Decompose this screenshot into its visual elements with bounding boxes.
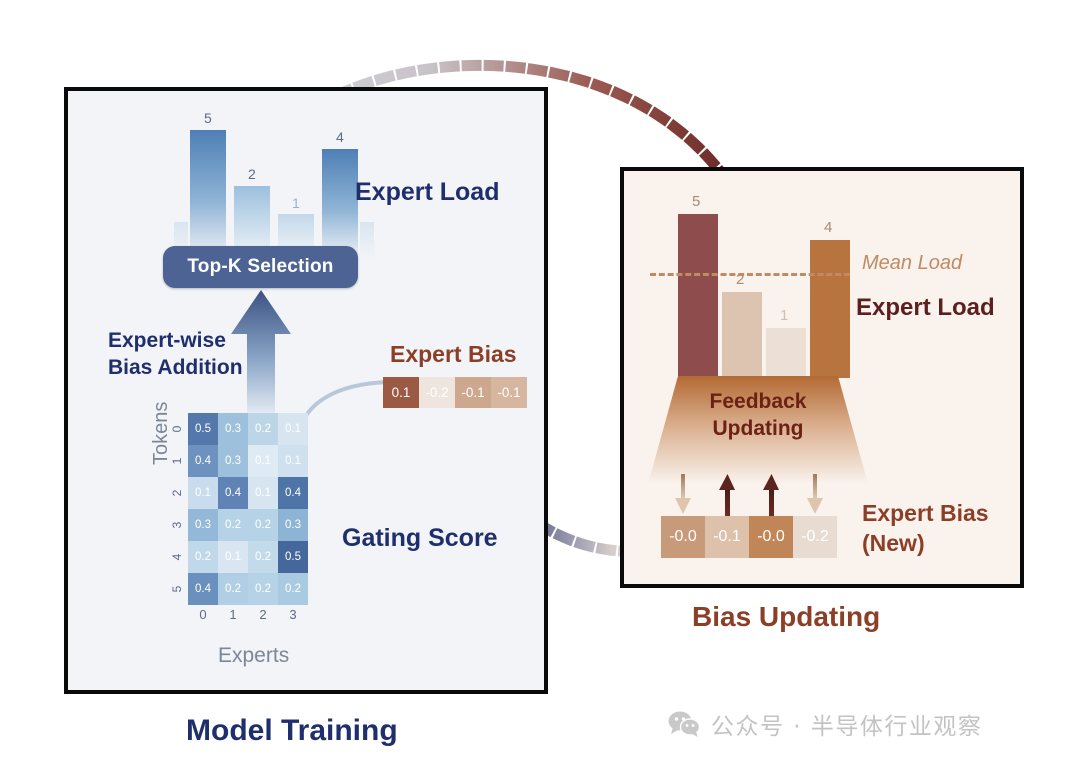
bias-cell-new: -0.2 <box>793 516 837 558</box>
bias-addition-line-2: Bias Addition <box>108 354 243 381</box>
heatmap-cell: 0.2 <box>248 573 278 605</box>
mean-load-dashed-line <box>650 273 850 276</box>
heatmap-cell: 0.1 <box>248 477 278 509</box>
bar-value-label: 1 <box>780 307 788 324</box>
bias-cell: -0.2 <box>419 377 455 408</box>
heatmap-cell: 0.3 <box>218 413 248 445</box>
heatmap-cell: 0.3 <box>218 445 248 477</box>
bar-value-label: 1 <box>292 195 300 211</box>
model-training-caption: Model Training <box>186 714 398 748</box>
token-row-label: 4 <box>161 550 193 564</box>
bias-cell: -0.1 <box>455 377 491 408</box>
heatmap-row: 0.2 0.1 0.2 0.5 <box>188 541 308 573</box>
diagram-canvas: 5 2 1 4 Expert Load Top-K Selection Expe… <box>0 0 1080 776</box>
bar-value-label: 5 <box>204 110 212 126</box>
expert-bias-new-line-2: (New) <box>862 528 989 558</box>
heatmap-row: 0.4 0.2 0.2 0.2 <box>188 573 308 605</box>
top-k-selection-label: Top-K Selection <box>187 256 333 278</box>
feedback-updating-label: Feedback Updating <box>648 388 868 442</box>
heatmap-row: 0.4 0.3 0.1 0.1 <box>188 445 308 477</box>
heatmap-cell: 0.2 <box>218 573 248 605</box>
heatmap-cell: 0.1 <box>248 445 278 477</box>
expert-col-label: 0 <box>188 607 218 622</box>
experts-axis-label: Experts <box>218 644 289 668</box>
heatmap-cell: 0.2 <box>248 509 278 541</box>
heatmap-cell: 0.4 <box>278 477 308 509</box>
bias-arrow-down-icon <box>807 474 823 514</box>
feedback-line-1: Feedback <box>648 388 868 415</box>
heatmap-row: 0.5 0.3 0.2 0.1 <box>188 413 308 445</box>
wechat-icon <box>668 710 700 738</box>
expert-load-bar-chart-left: 5 2 1 4 <box>172 110 362 260</box>
gating-score-heatmap: 0 1 2 3 4 5 0.5 0.3 0.2 0.1 0.4 0.3 0.1 … <box>188 413 308 605</box>
token-row-label: 3 <box>161 518 193 532</box>
heatmap-cell: 0.2 <box>248 541 278 573</box>
feedback-line-2: Updating <box>648 415 868 442</box>
bias-cell-new: -0.0 <box>749 516 793 558</box>
expert-col-label: 2 <box>248 607 278 622</box>
expert-col-label: 3 <box>278 607 308 622</box>
watermark-text: 公众号 · 半导体行业观察 <box>711 707 982 741</box>
token-row-label: 2 <box>161 486 193 500</box>
bias-cell-new: -0.0 <box>661 516 705 558</box>
expert-bias-new-line-1: Expert Bias <box>862 498 989 528</box>
bias-cell: -0.1 <box>491 377 527 408</box>
bias-arrow-up-icon <box>719 474 735 516</box>
bias-cell-new: -0.1 <box>705 516 749 558</box>
heatmap-cell: 0.2 <box>218 509 248 541</box>
heatmap-cell: 0.5 <box>278 541 308 573</box>
bias-updating-caption: Bias Updating <box>692 601 880 633</box>
heatmap-cell: 0.4 <box>218 477 248 509</box>
expert-bias-row-left: 0.1 -0.2 -0.1 -0.1 <box>383 377 527 408</box>
expert-bias-new-label: Expert Bias (New) <box>862 498 989 558</box>
gating-score-label: Gating Score <box>342 524 498 553</box>
heatmap-cell: 0.1 <box>278 445 308 477</box>
heatmap-cell: 0.1 <box>218 541 248 573</box>
top-k-selection-box[interactable]: Top-K Selection <box>163 246 358 288</box>
expert-col-label: 1 <box>218 607 248 622</box>
expert-load-label-left: Expert Load <box>355 178 499 207</box>
heatmap-row: 0.3 0.2 0.2 0.3 <box>188 509 308 541</box>
bar-value-label: 5 <box>692 193 700 210</box>
bias-arrow-down-icon <box>675 474 691 514</box>
heatmap-row: 0.1 0.4 0.1 0.4 <box>188 477 308 509</box>
bar-value-label: 4 <box>336 129 344 145</box>
bias-arrow-up-icon <box>763 474 779 516</box>
expert-bias-new-row: -0.0 -0.1 -0.0 -0.2 <box>661 516 837 558</box>
bias-cell: 0.1 <box>383 377 419 408</box>
heatmap-cell: 0.2 <box>248 413 278 445</box>
heatmap-cell: 0.1 <box>278 413 308 445</box>
watermark: 公众号 · 半导体行业观察 <box>668 707 982 741</box>
tokens-axis-label: Tokens <box>150 402 173 465</box>
expert-bias-label-left: Expert Bias <box>390 341 517 368</box>
heatmap-cell: 0.2 <box>278 573 308 605</box>
expert-load-bar-chart-right: 5 2 1 4 <box>668 200 838 378</box>
bias-addition-line-1: Expert-wise <box>108 327 243 354</box>
expert-wise-bias-addition-label: Expert-wise Bias Addition <box>108 327 243 381</box>
token-row-label: 5 <box>161 582 193 596</box>
bias-update-arrows <box>661 472 837 516</box>
mean-load-label: Mean Load <box>862 252 962 275</box>
heatmap-cell: 0.3 <box>278 509 308 541</box>
expert-load-label-right: Expert Load <box>856 294 995 322</box>
bar-value-label: 4 <box>824 219 832 236</box>
bar-value-label: 2 <box>248 166 256 182</box>
